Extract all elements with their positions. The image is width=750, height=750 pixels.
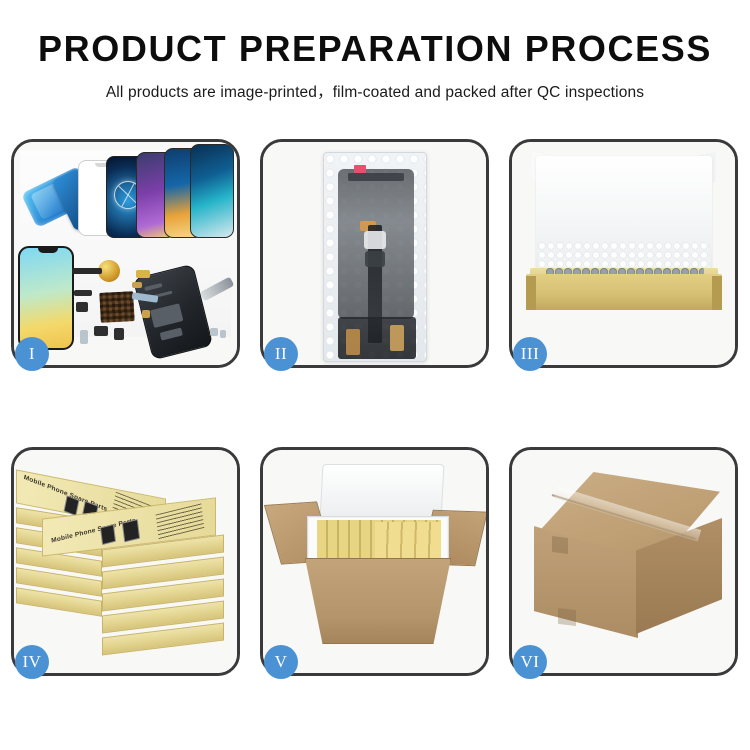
step-4-image: Mobile Phone Spare Parts Mobile Phone Sp… bbox=[14, 450, 237, 673]
page-subtitle: All products are image-printed，film-coat… bbox=[0, 80, 750, 102]
carton-tab-icon bbox=[552, 536, 568, 554]
step-badge-6: VI bbox=[513, 645, 547, 679]
carton-tab-icon bbox=[558, 608, 576, 626]
gold-connector-part-icon bbox=[136, 270, 150, 278]
yellow-boxes-row-icon bbox=[375, 522, 441, 558]
small-part-icon bbox=[114, 328, 124, 340]
step-badge-5: V bbox=[264, 645, 298, 679]
phone-large-broken-display-icon bbox=[18, 246, 74, 350]
step-5-image bbox=[263, 450, 486, 673]
foam-lid-icon bbox=[320, 464, 445, 520]
process-steps-grid: I II bbox=[11, 139, 739, 676]
step-badge-3: III bbox=[513, 337, 547, 371]
box-phone-thumbnail bbox=[63, 495, 79, 516]
step-6-image bbox=[512, 450, 735, 673]
connector-dark-icon bbox=[365, 251, 385, 267]
carton-body-icon bbox=[305, 558, 451, 644]
small-silver-part-icon bbox=[80, 330, 88, 344]
step-3-image bbox=[512, 142, 735, 365]
tape-left-icon bbox=[346, 329, 360, 355]
small-part-icon bbox=[76, 302, 88, 312]
process-step-panel-5: V bbox=[260, 447, 489, 676]
box-edge-left-icon bbox=[526, 276, 536, 310]
small-part-icon bbox=[94, 326, 108, 336]
step-badge-1: I bbox=[15, 337, 49, 371]
box-spec-lines bbox=[156, 503, 205, 540]
box-stack: Mobile Phone Spare Parts Mobile Phone Sp… bbox=[14, 450, 237, 673]
step-badge-2: II bbox=[264, 337, 298, 371]
small-silver-part-icon bbox=[220, 330, 226, 338]
small-gold-part-icon bbox=[132, 282, 142, 288]
phone-teal-display-icon bbox=[190, 144, 234, 238]
connector-chip-grid-icon bbox=[99, 291, 135, 323]
tape-right-icon bbox=[390, 325, 404, 351]
pink-label-icon bbox=[354, 165, 366, 173]
process-step-panel-2: II bbox=[260, 139, 489, 368]
box-edge-right-icon bbox=[712, 276, 722, 310]
small-part-icon bbox=[74, 290, 92, 296]
connector-white-icon bbox=[364, 231, 386, 249]
process-step-panel-4: Mobile Phone Spare Parts Mobile Phone Sp… bbox=[11, 447, 240, 676]
step-1-image bbox=[14, 142, 237, 365]
small-silver-part-icon bbox=[210, 328, 218, 336]
bubble-wrap-bag-icon bbox=[323, 152, 427, 362]
process-step-panel-6: VI bbox=[509, 447, 738, 676]
step-2-image bbox=[263, 142, 486, 365]
flex-cable-part-icon bbox=[72, 268, 102, 274]
box-phone-thumbnail bbox=[122, 519, 140, 542]
process-step-panel-1: I bbox=[11, 139, 240, 368]
step-badge-4: IV bbox=[15, 645, 49, 679]
box-tray-front-icon bbox=[526, 274, 722, 310]
small-gold-part-icon bbox=[142, 310, 150, 318]
process-step-panel-3: III bbox=[509, 139, 738, 368]
box-phone-thumbnail bbox=[100, 524, 116, 545]
lcd-top-bezel-icon bbox=[348, 173, 404, 181]
page-header: PRODUCT PREPARATION PROCESS All products… bbox=[0, 0, 750, 102]
page-title: PRODUCT PREPARATION PROCESS bbox=[0, 30, 750, 68]
